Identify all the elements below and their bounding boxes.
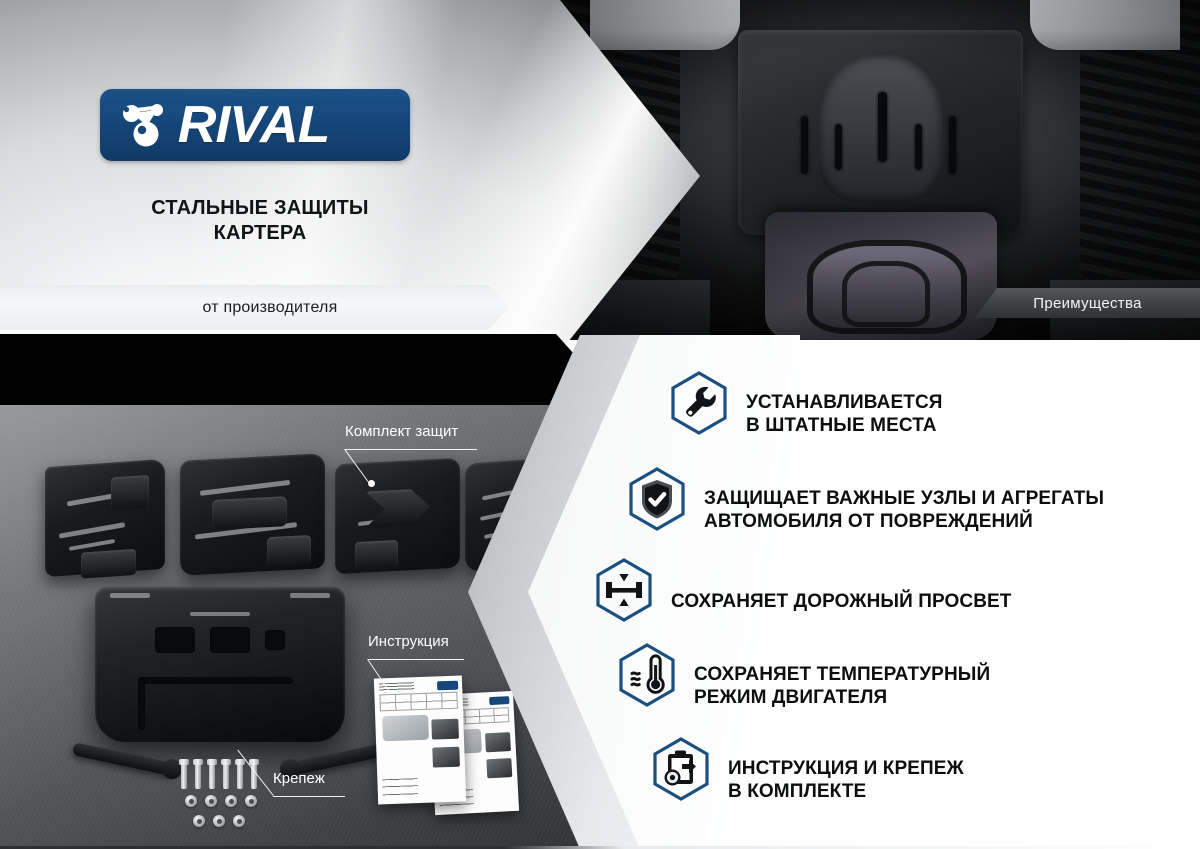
benefit-label: СОХРАНЯЕТ ТЕМПЕРАТУРНЫЙРЕЖИМ ДВИГАТЕЛЯ bbox=[694, 640, 990, 709]
band-seam bbox=[0, 330, 560, 334]
instruction-sheet-front bbox=[374, 676, 466, 805]
callout-fasteners: Крепеж bbox=[273, 770, 325, 787]
page-title-line-1: СТАЛЬНЫЕ ЗАЩИТЫ bbox=[100, 196, 420, 221]
shield-check-icon bbox=[628, 467, 686, 531]
benefit-label: ИНСТРУКЦИЯ И КРЕПЕЖВ КОМПЛЕКТЕ bbox=[728, 734, 964, 803]
skid-plate-3 bbox=[335, 458, 460, 575]
wrench-icon bbox=[670, 371, 728, 435]
poster-root: Преимущества RIVAL С bbox=[0, 0, 1200, 849]
benefit-label: УСТАНАВЛИВАЕТСЯВ ШТАТНЫЕ МЕСТА bbox=[746, 368, 943, 437]
benefits-list: УСТАНАВЛИВАЕТСЯВ ШТАТНЫЕ МЕСТА ЗАЩИЩАЕТ … bbox=[590, 340, 1200, 849]
callout-instruction: Инструкция bbox=[368, 633, 449, 650]
benefit-item-protects-components: ЗАЩИЩАЕТ ВАЖНЫЕ УЗЛЫ И АГРЕГАТЫАВТОМОБИЛ… bbox=[628, 464, 1104, 533]
rival-logo-text: RIVAL bbox=[178, 99, 330, 151]
page-title-line-2: КАРТЕРА bbox=[100, 221, 420, 246]
manual-and-hardware-icon bbox=[652, 737, 710, 801]
callout-plate-set-label: Комплект защит bbox=[345, 423, 458, 440]
ground-clearance-icon bbox=[595, 558, 653, 622]
benefit-item-keeps-ground-clearance: СОХРАНЯЕТ ДОРОЖНЫЙ ПРОСВЕТ bbox=[595, 558, 1012, 622]
advantages-ribbon: Преимущества bbox=[975, 288, 1200, 318]
thermometer-icon bbox=[618, 643, 676, 707]
callout-plate-set: Комплект защит bbox=[345, 423, 458, 440]
skid-plate-2 bbox=[180, 453, 325, 576]
advantages-ribbon-label: Преимущества bbox=[1033, 295, 1141, 312]
benefit-item-manual-and-hardware-included: ИНСТРУКЦИЯ И КРЕПЕЖВ КОМПЛЕКТЕ bbox=[652, 734, 964, 803]
benefit-item-keeps-engine-temperature: СОХРАНЯЕТ ТЕМПЕРАТУРНЫЙРЕЖИМ ДВИГАТЕЛЯ bbox=[618, 640, 990, 709]
callout-instruction-label: Инструкция bbox=[368, 633, 449, 650]
engine-skid-plate bbox=[95, 587, 345, 742]
rival-logo: RIVAL bbox=[100, 89, 410, 161]
page-title: СТАЛЬНЫЕ ЗАЩИТЫ КАРТЕРА bbox=[100, 196, 420, 246]
callout-fasteners-label: Крепеж bbox=[273, 770, 325, 787]
tagline-text: от производителя bbox=[203, 299, 338, 317]
rival-molecule-logo-icon bbox=[116, 96, 178, 154]
benefit-label: ЗАЩИЩАЕТ ВАЖНЫЕ УЗЛЫ И АГРЕГАТЫАВТОМОБИЛ… bbox=[704, 464, 1104, 533]
benefit-item-installs-in-stock-mounts: УСТАНАВЛИВАЕТСЯВ ШТАТНЫЕ МЕСТА bbox=[670, 368, 943, 437]
mounting-bracket-left bbox=[72, 742, 177, 777]
skid-plate-1 bbox=[45, 459, 165, 577]
benefit-label: СОХРАНЯЕТ ДОРОЖНЫЙ ПРОСВЕТ bbox=[671, 567, 1012, 613]
